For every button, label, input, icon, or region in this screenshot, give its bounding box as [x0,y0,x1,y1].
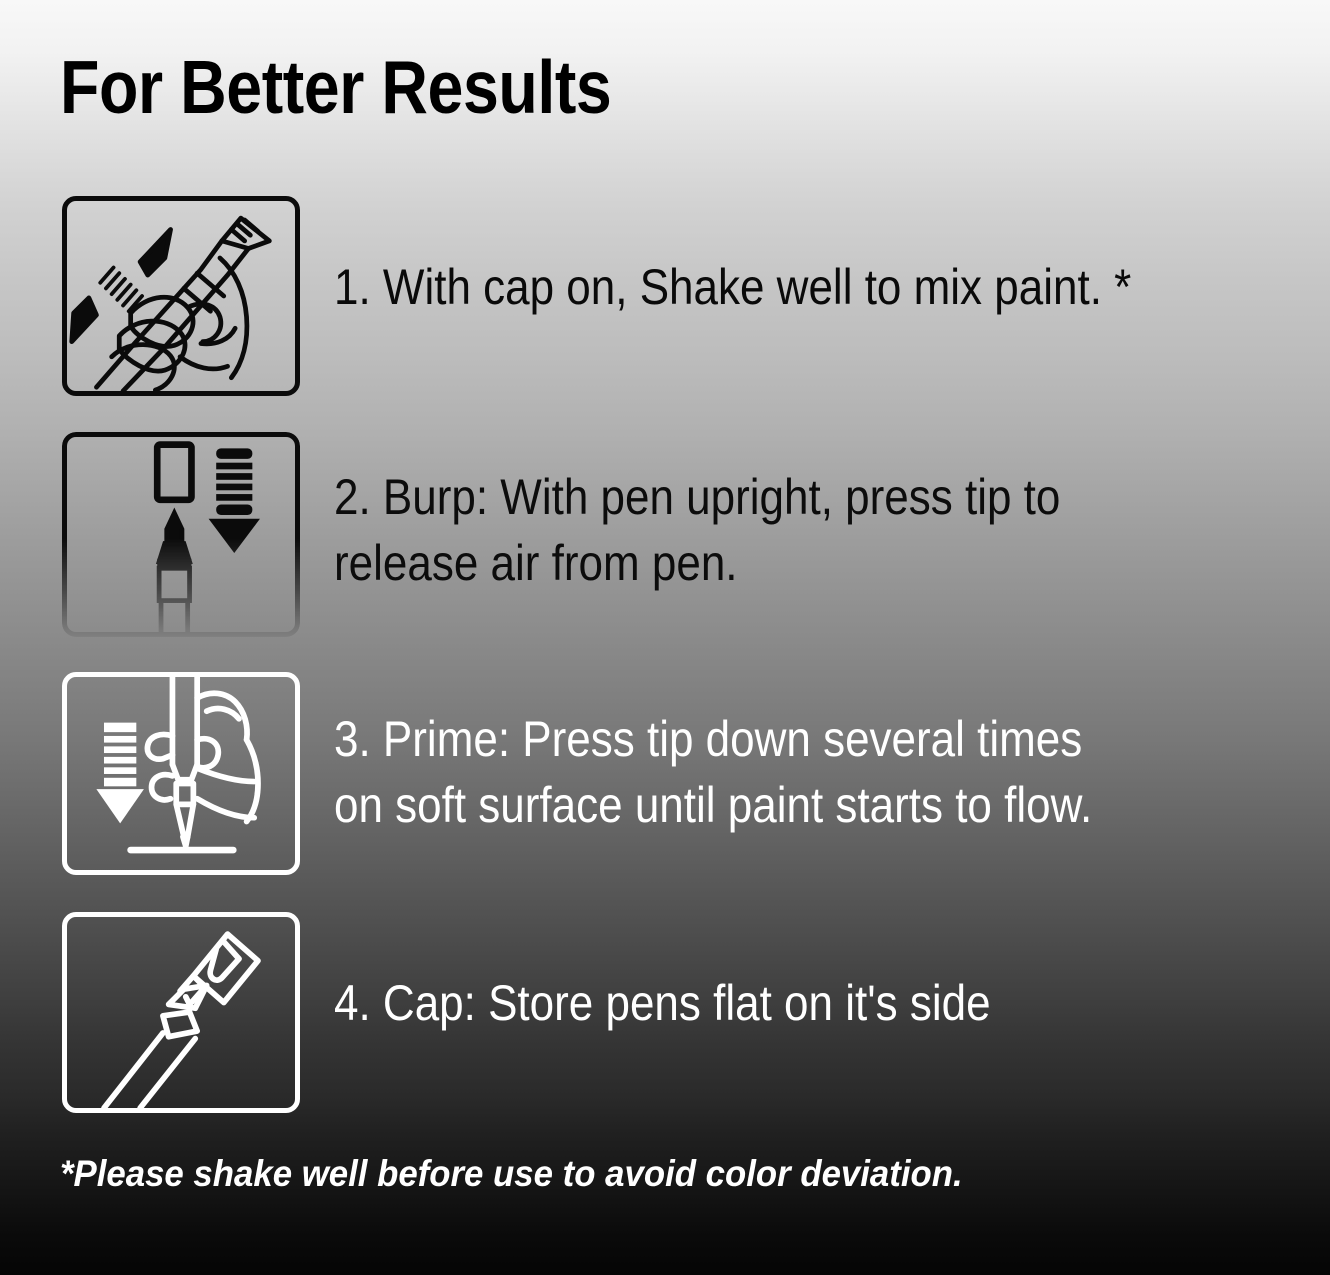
page-title: For Better Results [60,44,611,130]
step-text-3: 3. Prime: Press tip down several times o… [334,706,1179,838]
shake-pen-svg [67,201,295,391]
step-row-1: 1. With cap on, Shake well to mix paint.… [0,196,1330,396]
shake-pen-icon [62,196,300,396]
step-row-4: 4. Cap: Store pens flat on it's side [0,912,1330,1113]
cap-store-illustration [67,917,295,1108]
burp-pen-svg [67,437,295,632]
prime-press-tip-icon [62,672,300,875]
footnote-text: *Please shake well before use to avoid c… [60,1150,963,1198]
burp-pen-upright-icon [62,432,300,637]
cap-store-flat-icon [62,912,300,1113]
step-text-2: 2. Burp: With pen upright, press tip to … [334,464,1179,596]
step-text-1: 1. With cap on, Shake well to mix paint.… [334,254,1179,320]
step-row-2: 2. Burp: With pen upright, press tip to … [0,432,1330,637]
burp-pen-illustration [67,437,295,632]
instruction-panel: For Better Results [0,0,1330,1275]
step-row-3: 3. Prime: Press tip down several times o… [0,672,1330,875]
cap-store-svg [67,917,295,1108]
prime-press-svg [67,677,295,870]
shake-pen-illustration [67,201,295,391]
step-text-4: 4. Cap: Store pens flat on it's side [334,970,1179,1036]
prime-press-illustration [67,677,295,870]
